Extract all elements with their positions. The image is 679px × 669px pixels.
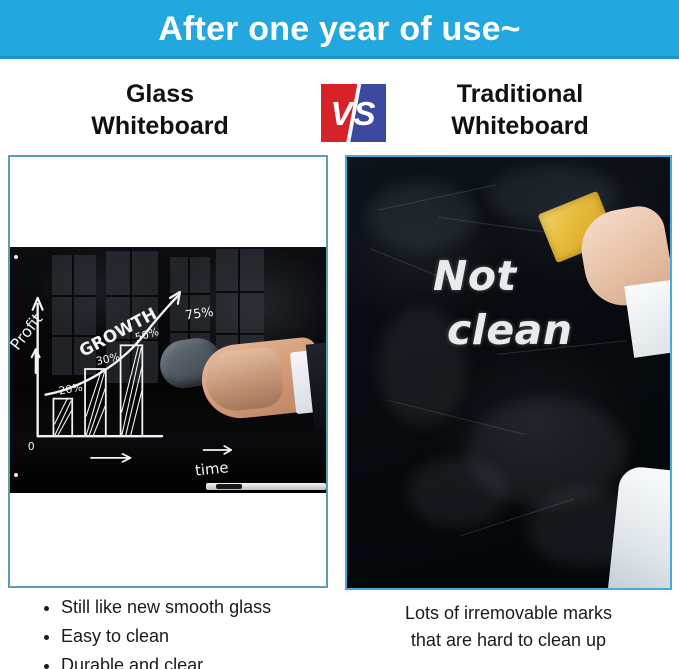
right-column-title-line1: Traditional — [370, 78, 670, 110]
left-benefits-ul: Still like new smooth glass Easy to clea… — [44, 594, 334, 669]
left-panel-glass-whiteboard: Profit GROWTH 20% 30% 50% 75% 0 time — [8, 155, 328, 588]
glass-whiteboard-photo: Profit GROWTH 20% 30% 50% 75% 0 time — [10, 247, 326, 493]
right-panel-traditional-whiteboard: Not clean — [345, 155, 672, 590]
chalk-bar-label-1: 20% — [58, 381, 84, 398]
chalk-y-axis-label: Profit — [10, 310, 46, 354]
chalk-origin-label: 0 — [28, 440, 35, 453]
chalk-text-line2: clean — [447, 303, 613, 357]
left-column-title: Glass Whiteboard — [10, 78, 310, 142]
right-column-title-line2: Whiteboard — [370, 110, 670, 142]
left-column-title-line2: Whiteboard — [10, 110, 310, 142]
shirt-sleeve — [607, 465, 672, 590]
comparison-infographic: After one year of use~ Glass Whiteboard … — [0, 0, 679, 669]
vs-badge: VS — [321, 84, 386, 142]
right-caption-line1: Lots of irremovable marks — [345, 600, 672, 627]
chalk-text-line1: Not — [433, 252, 517, 300]
right-column-title: Traditional Whiteboard — [370, 78, 670, 142]
shirt-cuff — [624, 280, 672, 358]
page-title: After one year of use~ — [158, 12, 520, 46]
left-column-title-line1: Glass — [10, 78, 310, 110]
list-item: Still like new smooth glass — [61, 594, 334, 620]
marker-pen — [216, 484, 242, 489]
list-item: Durable and clear — [61, 652, 334, 669]
left-benefits-list: Still like new smooth glass Easy to clea… — [44, 594, 334, 669]
chalk-peak-label: 75% — [184, 305, 214, 324]
header-underline — [0, 56, 679, 59]
right-caption-line2: that are hard to clean up — [345, 627, 672, 654]
list-item: Easy to clean — [61, 623, 334, 649]
vs-badge-label: VS — [321, 84, 386, 142]
chalk-x-axis-label: time — [194, 459, 229, 479]
header-banner: After one year of use~ — [0, 0, 679, 59]
right-caption: Lots of irremovable marks that are hard … — [345, 600, 672, 654]
